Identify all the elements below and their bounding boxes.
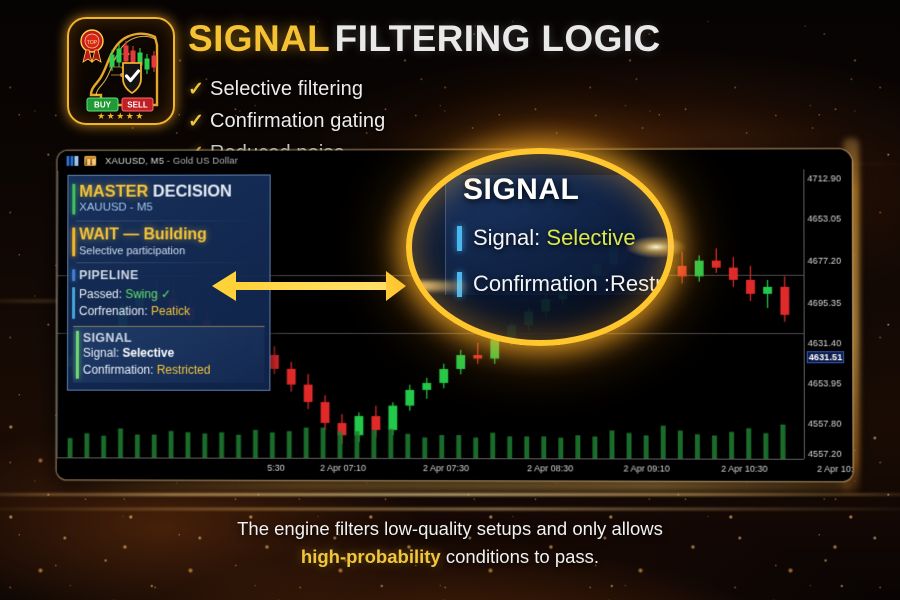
row-value: Selective bbox=[122, 346, 174, 360]
symbol-label: XAUUSD, M5 bbox=[105, 155, 164, 166]
list-item: ✓ Selective filtering bbox=[188, 74, 385, 104]
bullet-label: Selective filtering bbox=[210, 78, 363, 101]
page-title: SIGNAL FILTERING LOGIC bbox=[188, 18, 661, 60]
time-tick: 5:30 bbox=[267, 463, 284, 473]
pipeline-group: PIPELINE bbox=[68, 266, 269, 284]
row-label: Confirmation: bbox=[83, 363, 157, 377]
row-label: Signal: bbox=[83, 346, 123, 360]
time-tick: 2 Apr 10:30 bbox=[721, 464, 767, 474]
row-value: Swing ✓ bbox=[125, 287, 171, 301]
state-title: WAIT — Building bbox=[79, 227, 263, 246]
row-value: Restricted bbox=[157, 363, 211, 377]
award-rosette-icon: TOP bbox=[81, 30, 103, 62]
logo-stars: ★★★★★ bbox=[97, 111, 145, 121]
caption-rest: conditions to pass. bbox=[441, 546, 599, 567]
volume-series bbox=[57, 423, 804, 458]
caption-line-2: high-probability conditions to pass. bbox=[0, 543, 900, 571]
footer-caption: The engine filters low-quality setups an… bbox=[0, 515, 900, 571]
caption-highlight: high-probability bbox=[301, 546, 441, 567]
price-tick: 4695.35 bbox=[808, 298, 842, 308]
signal-heading: SIGNAL bbox=[83, 331, 259, 345]
divider bbox=[76, 262, 263, 263]
pipeline-rows: Passed: Swing ✓ Corfrenation: Peatick bbox=[68, 284, 269, 322]
shield-check-icon bbox=[123, 63, 141, 93]
master-decision-panel[interactable]: MASTER DECISION XAUUSD - M5 WAIT — Build… bbox=[67, 174, 271, 390]
price-tick: 4712.90 bbox=[807, 173, 841, 183]
time-tick: 2 Apr 09:10 bbox=[624, 463, 670, 473]
title-gold: SIGNAL bbox=[188, 18, 330, 59]
current-price-label: 4631.51 bbox=[807, 351, 845, 363]
svg-text:SELL: SELL bbox=[127, 101, 148, 110]
time-tick: 2 Apr 08:30 bbox=[527, 463, 573, 473]
logo-artwork: TOP BUY SELL ★★★★★ bbox=[69, 19, 173, 123]
price-axis[interactable]: 4712.90 4653.05 4677.20 4695.35 4631.40 … bbox=[803, 169, 852, 459]
magnifier-callout: SIGNAL Signal: Selective Confirmation :R… bbox=[406, 148, 674, 346]
state-group: WAIT — Building Selective participation bbox=[68, 225, 269, 259]
table-row: Passed: Swing ✓ bbox=[79, 286, 264, 303]
master-symbol-sub: XAUUSD - M5 bbox=[79, 201, 263, 216]
price-tick: 4653.95 bbox=[808, 378, 842, 388]
time-tick: 2 Apr 07:10 bbox=[320, 463, 366, 473]
row-label: Corfrenation: bbox=[79, 304, 151, 318]
poster-stage: TOP BUY SELL ★★★★★ SIGNAL FILTE bbox=[0, 0, 900, 600]
check-icon: ✓ bbox=[188, 78, 210, 101]
divider bbox=[76, 221, 263, 222]
brand-logo: TOP BUY SELL ★★★★★ bbox=[67, 17, 175, 125]
bullet-label: Confirmation gating bbox=[210, 110, 385, 133]
window-grid-icon bbox=[67, 156, 79, 166]
master-title-gold: MASTER bbox=[79, 183, 148, 201]
master-title-white: DECISION bbox=[153, 183, 232, 201]
row-label: Passed: bbox=[79, 287, 125, 301]
time-axis[interactable]: 5:30 2 Apr 07:10 2 Apr 07:30 2 Apr 08:30… bbox=[57, 457, 804, 481]
row-value: Peatick bbox=[151, 304, 190, 318]
state-subtitle: Selective participation bbox=[79, 245, 263, 257]
pipeline-heading: PIPELINE bbox=[79, 268, 264, 282]
time-tick: 2 Apr 07:30 bbox=[423, 463, 469, 473]
symbol-description: Gold US Dollar bbox=[173, 155, 238, 166]
master-decision-group: MASTER DECISION XAUUSD - M5 bbox=[68, 180, 269, 218]
signal-group: SIGNAL Signal: Selective Confirmation: R… bbox=[73, 326, 265, 383]
price-tick: 4631.40 bbox=[808, 338, 842, 348]
svg-text:TOP: TOP bbox=[87, 40, 98, 46]
chart-window-icon bbox=[84, 156, 96, 166]
ring-sparkle bbox=[626, 236, 686, 258]
title-white: FILTERING LOGIC bbox=[335, 18, 661, 59]
table-row: Corfrenation: Peatick bbox=[79, 303, 264, 320]
terminal-title: XAUUSD, M5 - Gold US Dollar bbox=[105, 155, 238, 166]
check-icon: ✓ bbox=[188, 110, 210, 133]
price-tick: 4653.05 bbox=[807, 214, 841, 224]
master-decision-heading: MASTER DECISION bbox=[79, 182, 263, 201]
time-tick: 2 Apr 10:30 bbox=[817, 464, 852, 474]
price-tick: 4557.20 bbox=[808, 449, 842, 459]
caption-line-1: The engine filters low-quality setups an… bbox=[0, 515, 900, 543]
price-tick: 4557.80 bbox=[808, 419, 842, 429]
price-tick: 4677.20 bbox=[808, 256, 842, 266]
list-item: ✓ Confirmation gating bbox=[188, 106, 385, 136]
table-row: Confirmation: Restricted bbox=[83, 362, 259, 379]
svg-text:BUY: BUY bbox=[94, 101, 112, 110]
table-row: Signal: Selective bbox=[83, 345, 259, 362]
